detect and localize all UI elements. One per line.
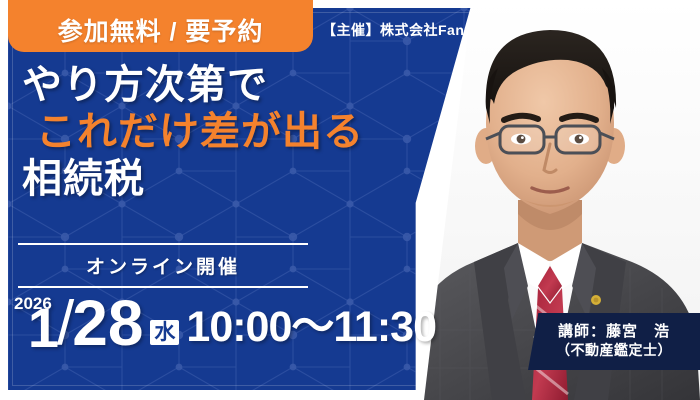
divider-bottom [18,286,308,288]
date-time-row: 2026 1 / 28 水 10:00〜11:30 [14,293,436,354]
date-weekday-badge: 水 [150,320,179,345]
date-month: 1 [28,301,59,354]
speaker-caption-box: 講師：藤宮 浩 （不動産鑑定士） [528,313,700,370]
organizer-label: 【主催】株式会社Fan [322,20,464,40]
speaker-name: 講師：藤宮 浩 [558,323,670,342]
seminar-banner: 参加無料 / 要予約 【主催】株式会社Fan やり方次第で これだけ差が出る 相… [0,0,700,400]
event-time: 10:00〜11:30 [186,306,436,349]
online-format-label: オンライン開催 [18,245,308,286]
headline-line-1: やり方次第で [22,62,462,109]
free-admission-badge-label: 参加無料 / 要予約 [58,12,264,48]
headline: やり方次第で これだけ差が出る 相続税 [22,62,462,204]
date-day: 28 [72,293,143,354]
free-admission-badge: 参加無料 / 要予約 [8,0,313,52]
online-format-block: オンライン開催 [18,243,308,288]
headline-line-3: 相続税 [22,156,462,203]
headline-line-2: これだけ差が出る [22,109,462,156]
speaker-title: （不動産鑑定士） [556,342,672,360]
